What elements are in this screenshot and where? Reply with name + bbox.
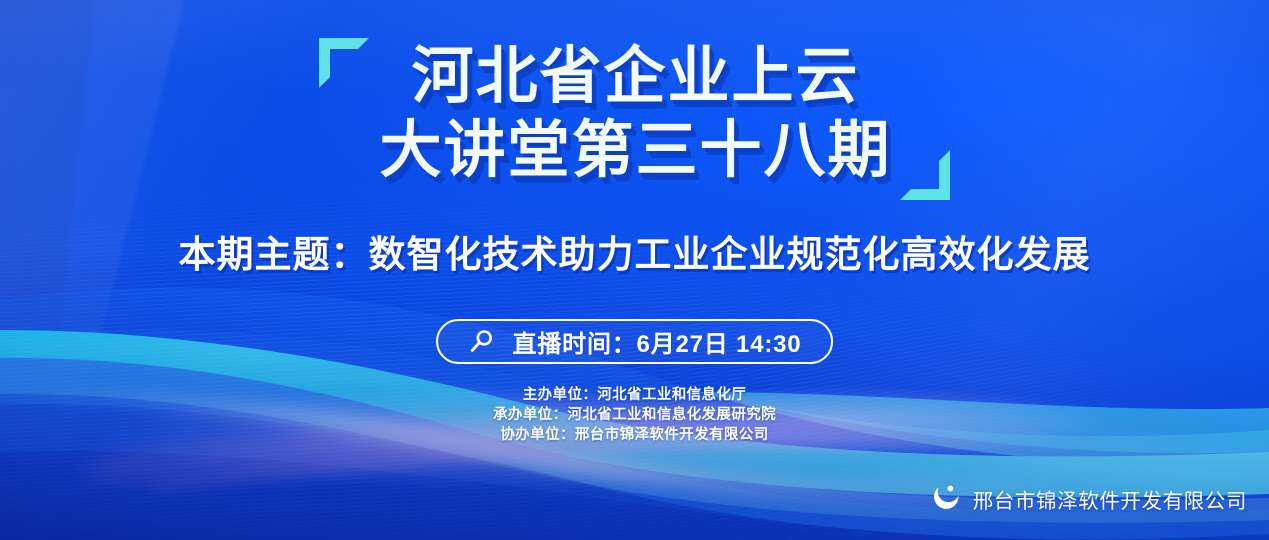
live-time-pill[interactable]: 直播时间：6月27日 14:30 [436,319,834,364]
title-inner: 河北省企业上云 大讲堂第三十八期 [315,36,953,196]
organizer-list: 主办单位：河北省工业和信息化厅 承办单位：河北省工业和信息化发展研究院 协办单位… [0,385,1269,445]
magnifier-icon [468,328,495,355]
promo-banner: 河北省企业上云 大讲堂第三十八期 本期主题：数智化技术助力工业企业规范化高效化发… [0,0,1269,540]
subtitle-topic: 本期主题：数智化技术助力工业企业规范化高效化发展 [0,232,1269,278]
organizer-line-co-organizer: 协办单位：邢台市锦泽软件开发有限公司 [0,425,1269,445]
jinze-crescent-logo-icon [933,481,963,516]
footer-company-logo: 邢台市锦泽软件开发有限公司 [933,481,1247,516]
organizer-line-organizer: 承办单位：河北省工业和信息化发展研究院 [0,405,1269,425]
organizer-line-host: 主办单位：河北省工业和信息化厅 [0,385,1269,405]
title-line-1: 河北省企业上云 [379,42,891,112]
banner-content: 河北省企业上云 大讲堂第三十八期 本期主题：数智化技术助力工业企业规范化高效化发… [0,0,1269,540]
title-line-2: 大讲堂第三十八期 [379,116,891,186]
title-block: 河北省企业上云 大讲堂第三十八期 [0,36,1269,196]
corner-bracket-bottom-right-icon [900,150,952,202]
corner-bracket-top-left-icon [317,36,369,88]
footer-company-name: 邢台市锦泽软件开发有限公司 [973,484,1247,514]
live-time-text: 直播时间：6月27日 14:30 [513,324,802,359]
